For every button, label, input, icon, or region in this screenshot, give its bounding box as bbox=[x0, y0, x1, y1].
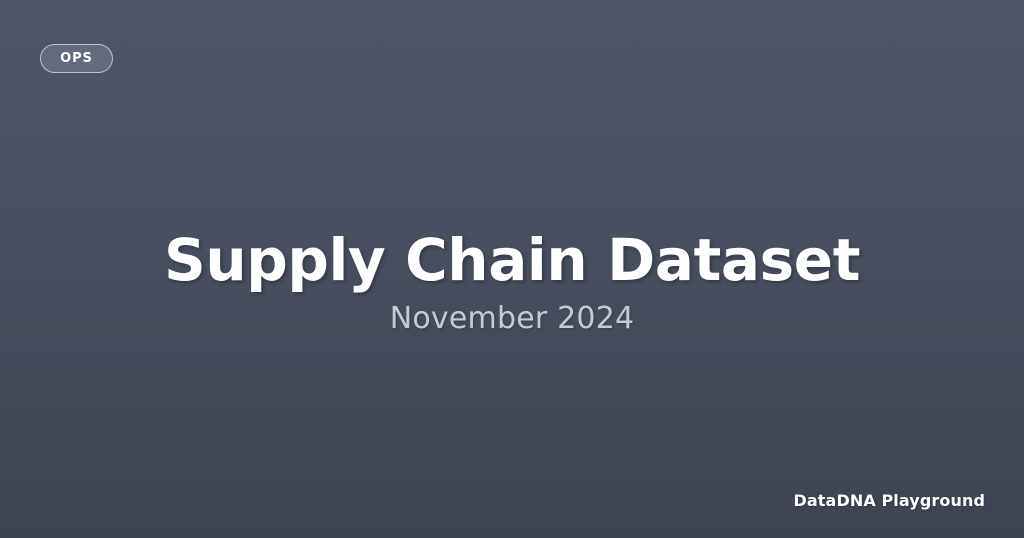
category-badge-label: OPS bbox=[60, 52, 93, 65]
slide-subtitle: November 2024 bbox=[0, 301, 1024, 337]
title-block: Supply Chain Dataset November 2024 bbox=[0, 228, 1024, 337]
category-badge: OPS bbox=[40, 44, 113, 73]
slide-title: Supply Chain Dataset bbox=[0, 228, 1024, 293]
footer-brand: DataDNA Playground bbox=[794, 493, 985, 509]
title-slide: OPS Supply Chain Dataset November 2024 D… bbox=[0, 0, 1024, 538]
